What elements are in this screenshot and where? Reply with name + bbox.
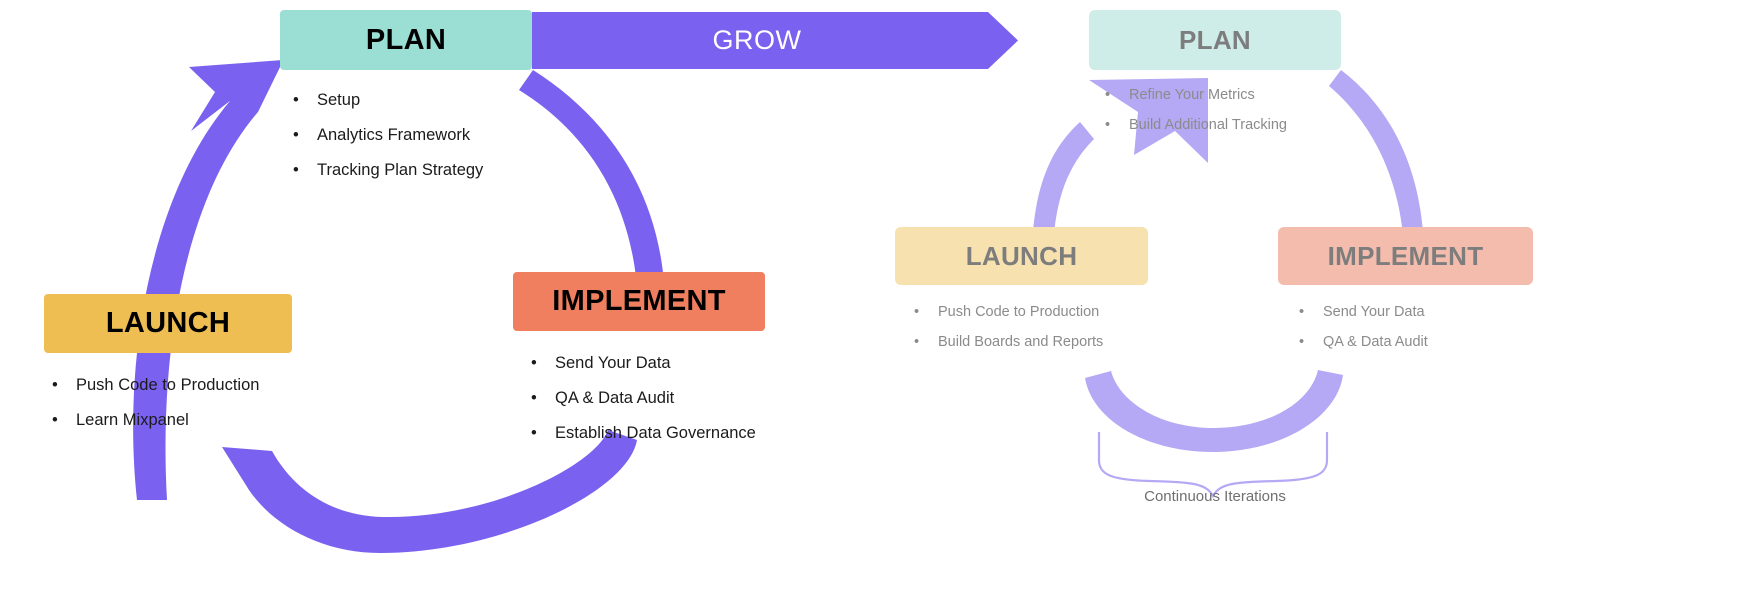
list-item: • Tracking Plan Strategy [293, 161, 532, 180]
grow-banner: GROW [532, 12, 1019, 69]
list-item: • Build Additional Tracking [1105, 117, 1341, 133]
grow-banner-label: GROW [532, 12, 982, 69]
stage-launch-faded-title: LAUNCH [895, 227, 1148, 285]
bullet-icon: • [52, 376, 76, 395]
arrowhead-launch-to-plan-left [189, 60, 283, 131]
stage-plan-active-items: • Setup • Analytics Framework • Tracking… [293, 91, 532, 180]
stage-implement-active-title: IMPLEMENT [513, 272, 765, 331]
list-item-label: Build Boards and Reports [938, 334, 1103, 350]
list-item: • Send Your Data [1299, 304, 1533, 320]
bullet-icon: • [1105, 117, 1129, 133]
bullet-icon: • [914, 334, 938, 350]
list-item-label: QA & Data Audit [555, 389, 674, 408]
list-item: • Push Code to Production [52, 376, 292, 395]
arc-plan-to-implement-right [1329, 70, 1424, 250]
list-item: • QA & Data Audit [531, 389, 765, 408]
bullet-icon: • [531, 389, 555, 408]
bullet-icon: • [293, 91, 317, 110]
list-item-label: Send Your Data [555, 354, 671, 373]
stage-implement-faded-items: • Send Your Data • QA & Data Audit [1299, 304, 1533, 350]
list-item: • Push Code to Production [914, 304, 1148, 320]
bullet-icon: • [1299, 304, 1323, 320]
list-item-label: Build Additional Tracking [1129, 117, 1287, 133]
bullet-icon: • [293, 161, 317, 180]
stage-implement-active[interactable]: IMPLEMENT • Send Your Data • QA & Data A… [513, 272, 765, 459]
list-item: • Analytics Framework [293, 126, 532, 145]
list-item: • QA & Data Audit [1299, 334, 1533, 350]
bullet-icon: • [1299, 334, 1323, 350]
list-item: • Refine Your Metrics [1105, 87, 1341, 103]
list-item-label: Send Your Data [1323, 304, 1425, 320]
list-item-label: Push Code to Production [938, 304, 1099, 320]
stage-plan-faded-items: • Refine Your Metrics • Build Additional… [1105, 87, 1341, 133]
stage-implement-active-items: • Send Your Data • QA & Data Audit • Est… [531, 354, 765, 443]
list-item: • Learn Mixpanel [52, 411, 292, 430]
list-item: • Establish Data Governance [531, 424, 765, 443]
stage-launch-faded-items: • Push Code to Production • Build Boards… [914, 304, 1148, 350]
list-item-label: Tracking Plan Strategy [317, 161, 483, 180]
list-item-label: Refine Your Metrics [1129, 87, 1255, 103]
stage-plan-faded[interactable]: PLAN • Refine Your Metrics • Build Addit… [1089, 10, 1341, 147]
list-item: • Send Your Data [531, 354, 765, 373]
stage-plan-active-title: PLAN [280, 10, 532, 70]
bullet-icon: • [1105, 87, 1129, 103]
list-item-label: Analytics Framework [317, 126, 470, 145]
stage-plan-active[interactable]: PLAN • Setup • Analytics Framework • Tra… [280, 10, 532, 196]
stage-implement-faded[interactable]: IMPLEMENT • Send Your Data • QA & Data A… [1278, 227, 1533, 364]
diagram-canvas: GROW PLAN • Setup • Analytics Framework … [0, 0, 1740, 589]
continuous-iterations-brace [1099, 432, 1327, 496]
continuous-iterations-label: Continuous Iterations [1090, 488, 1340, 505]
bullet-icon: • [531, 424, 555, 443]
stage-launch-active-title: LAUNCH [44, 294, 292, 353]
list-item-label: QA & Data Audit [1323, 334, 1428, 350]
bullet-icon: • [531, 354, 555, 373]
bullet-icon: • [293, 126, 317, 145]
list-item: • Build Boards and Reports [914, 334, 1148, 350]
list-item: • Setup [293, 91, 532, 110]
list-item-label: Establish Data Governance [555, 424, 756, 443]
list-item-label: Learn Mixpanel [76, 411, 189, 430]
arc-plan-to-implement-left [519, 70, 665, 302]
bullet-icon: • [914, 304, 938, 320]
bullet-icon: • [52, 411, 76, 430]
list-item-label: Push Code to Production [76, 376, 259, 395]
stage-implement-faded-title: IMPLEMENT [1278, 227, 1533, 285]
stage-launch-faded[interactable]: LAUNCH • Push Code to Production • Build… [895, 227, 1148, 364]
list-item-label: Setup [317, 91, 360, 110]
stage-launch-active-items: • Push Code to Production • Learn Mixpan… [52, 376, 292, 430]
stage-launch-active[interactable]: LAUNCH • Push Code to Production • Learn… [44, 294, 292, 446]
arc-implement-to-launch-right [1085, 370, 1343, 452]
stage-plan-faded-title: PLAN [1089, 10, 1341, 70]
